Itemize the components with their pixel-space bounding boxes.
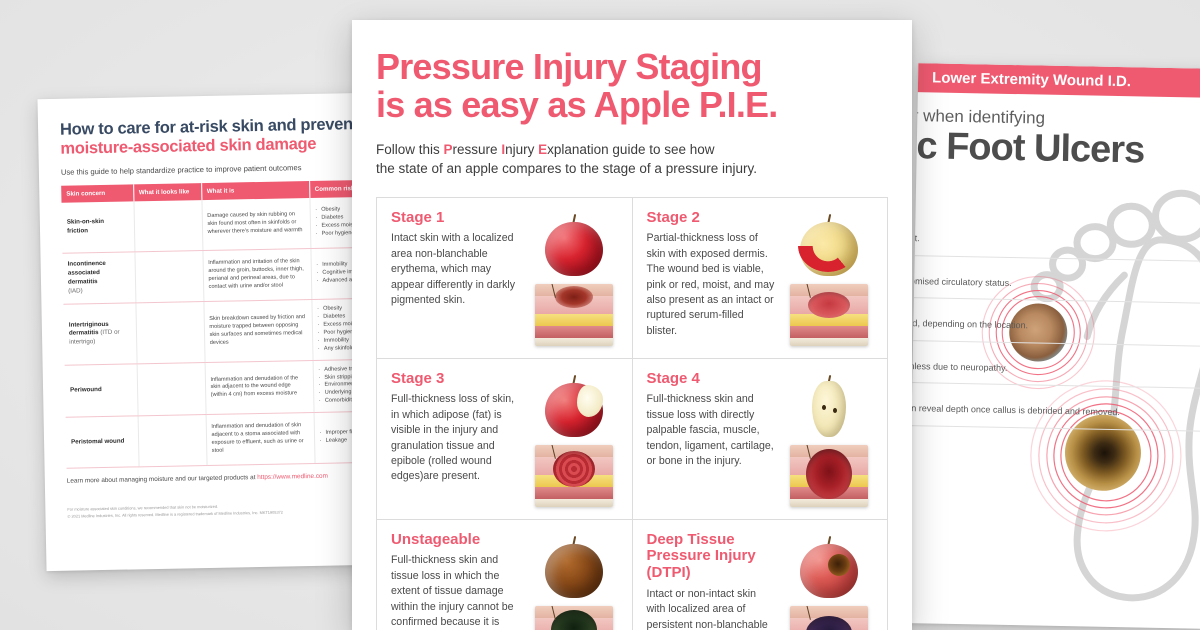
fineprint: For moisture associated skin conditions,… xyxy=(67,500,376,519)
concern-line2: dermatitis xyxy=(69,329,99,337)
pie-title: Pressure Injury Staging is as easy as Ap… xyxy=(376,48,888,124)
intro-d: xplanation guide to see how xyxy=(547,142,714,157)
stage-4-skin-cross-section xyxy=(790,445,868,507)
foot-ulcer-inner: Lower Extremity Wound I.D. What to look … xyxy=(908,63,1200,629)
stage-heading: Stage 4 xyxy=(647,371,778,388)
stage-cell-unstageable[interactable]: Unstageable Full-thickness skin and tiss… xyxy=(377,520,633,630)
stage-body: Full-thickness skin and tissue loss in w… xyxy=(391,553,522,630)
concern-sub: (IAD) xyxy=(68,287,83,294)
stage-1-skin-cross-section xyxy=(535,284,613,346)
stage-cell-dtpi[interactable]: Deep Tissue Pressure Injury (DTPI) Intac… xyxy=(633,520,889,630)
skin-on-skin-friction-photo xyxy=(139,206,208,245)
concern-line2: friction xyxy=(67,227,88,234)
column-header-skin-concern: Skin concern xyxy=(61,184,133,202)
unstageable-skin-cross-section xyxy=(535,606,613,630)
stage-body: Intact skin with a localized area non-bl… xyxy=(391,231,522,308)
qa-row: Is it painful? Varies, and may be comple… xyxy=(908,338,1200,389)
stage-3-skin-cross-section xyxy=(535,445,613,507)
table-row: Incontinence associated dermatitis (IAD)… xyxy=(62,247,376,305)
qa-row: Where is it located? Most often on the b… xyxy=(908,210,1200,261)
column-header-what-it-looks-like: What it looks like xyxy=(133,183,201,201)
diabetic-foot-ulcer-sheet[interactable]: Lower Extremity Wound I.D. What to look … xyxy=(908,63,1200,629)
stage-body: Partial-thickness loss of skin with expo… xyxy=(647,231,778,339)
intro-c: njury xyxy=(505,142,538,157)
bitten-apple xyxy=(543,375,605,439)
stage-heading: Stage 1 xyxy=(391,210,522,227)
table-row: Intertriginous dermatitis (ITD or intert… xyxy=(63,298,376,365)
lower-extremity-band: Lower Extremity Wound I.D. xyxy=(908,63,1200,98)
pie-intro: Follow this Pressure Injury Explanation … xyxy=(376,140,888,178)
masd-guide-inner: How to care for at-risk skin and prevent… xyxy=(60,114,377,520)
dtpi-skin-cross-section xyxy=(790,606,868,630)
table-row: Skin-on-skin friction Damage caused by s… xyxy=(61,196,376,253)
stage-heading: Stage 3 xyxy=(391,371,522,388)
stage-heading: Stage 2 xyxy=(647,210,778,227)
intro-e: E xyxy=(538,142,547,157)
cell-skin-concern: Skin-on-skin friction xyxy=(61,201,134,253)
masd-guide-sheet[interactable]: How to care for at-risk skin and prevent… xyxy=(37,93,376,571)
pressure-injury-staging-sheet[interactable]: Pressure Injury Staging is as easy as Ap… xyxy=(352,20,912,630)
foot-ulcer-heading: Diabetic Foot Ulcers xyxy=(908,124,1200,173)
stage-cell-3[interactable]: Stage 3 Full-thickness loss of skin, in … xyxy=(377,359,633,520)
cell-what-it-is: Skin breakdown caused by friction and mo… xyxy=(203,299,312,362)
stage-cell-4[interactable]: Stage 4 Full-thickness skin and tissue l… xyxy=(633,359,889,520)
cell-photo xyxy=(137,362,206,416)
cell-photo xyxy=(138,415,207,467)
table-row: Periwound Inflammation and denudation of… xyxy=(65,358,377,417)
intro-p: P xyxy=(444,142,453,157)
peristomal-wound-photo xyxy=(143,421,212,460)
rotten-brown-apple xyxy=(543,536,605,600)
cell-what-it-is: Inflammation and denudation of skin adja… xyxy=(206,413,315,466)
intertriginous-dermatitis-photo xyxy=(141,313,210,352)
pie-title-line2: is as easy as Apple P.I.E. xyxy=(376,86,888,124)
stage-grid: Stage 1 Intact skin with a localized are… xyxy=(376,197,888,630)
qa-row: Other characteristics May appear shallow… xyxy=(908,380,1200,431)
apple-core xyxy=(798,375,860,439)
intro-line2: the state of an apple compares to the st… xyxy=(376,159,888,178)
cell-what-it-is: Damage caused by skin rubbing on skin fo… xyxy=(201,198,310,251)
intro-a: Follow this xyxy=(376,142,444,157)
cell-photo xyxy=(133,200,202,252)
peeled-apple xyxy=(798,214,860,278)
table-row: Peristomal wound Inflammation and denuda… xyxy=(66,411,377,469)
intro-b: ressure xyxy=(453,142,502,157)
stage-heading: Unstageable xyxy=(391,532,522,549)
whole-red-apple xyxy=(543,214,605,278)
pie-title-line1: Pressure Injury Staging xyxy=(376,48,888,86)
concern-line1: Incontinence xyxy=(68,260,106,268)
stage-body: Full-thickness skin and tissue loss with… xyxy=(647,392,778,469)
cell-skin-concern: Intertriginous dermatitis (ITD or intert… xyxy=(63,303,136,365)
concern-line1: Skin-on-skin xyxy=(67,218,104,226)
concern-line2: associated dermatitis xyxy=(68,269,100,285)
cell-what-it-is: Inflammation and irritation of the skin … xyxy=(202,248,311,301)
cell-photo xyxy=(135,302,204,364)
incontinence-associated-dermatitis-photo xyxy=(140,257,209,296)
stage-2-skin-cross-section xyxy=(790,284,868,346)
cell-skin-concern: Periwound xyxy=(65,363,138,417)
learn-more-link[interactable]: https://www.medline.com xyxy=(257,473,328,481)
stage-heading: Deep Tissue Pressure Injury (DTPI) xyxy=(647,532,778,582)
stage-cell-2[interactable]: Stage 2 Partial-thickness loss of skin w… xyxy=(633,198,889,359)
cell-skin-concern: Incontinence associated dermatitis (IAD) xyxy=(62,252,135,304)
masd-subtitle: Use this guide to help standardize pract… xyxy=(61,161,377,177)
column-header-what-it-is: What it is xyxy=(201,181,309,200)
cell-skin-concern: Peristomal wound xyxy=(66,416,139,468)
qa-row: What does it look like? Deep, round and … xyxy=(908,295,1200,346)
learn-more-prefix: Learn more about managing moisture and o… xyxy=(67,474,258,485)
cell-photo xyxy=(134,251,203,303)
learn-more-text: Learn more about managing moisture and o… xyxy=(67,471,377,485)
stage-cell-1[interactable]: Stage 1 Intact skin with a localized are… xyxy=(377,198,633,359)
foot-ulcer-qa-list: Where is it located? Most often on the b… xyxy=(908,210,1200,431)
qa-row: What causes it? Neuropathy, with or with… xyxy=(908,253,1200,304)
cell-what-it-is: Inflammation and denudation of the skin … xyxy=(205,360,314,415)
concern-line1: Intertriginous xyxy=(69,320,109,328)
stage-body: Full-thickness loss of skin, in which ad… xyxy=(391,392,522,484)
masd-table: Skin concern What it looks like What it … xyxy=(61,179,376,469)
stage-body: Intact or non-intact skin with localized… xyxy=(647,587,778,630)
periwound-photo xyxy=(142,369,211,408)
bruised-apple xyxy=(798,536,860,600)
